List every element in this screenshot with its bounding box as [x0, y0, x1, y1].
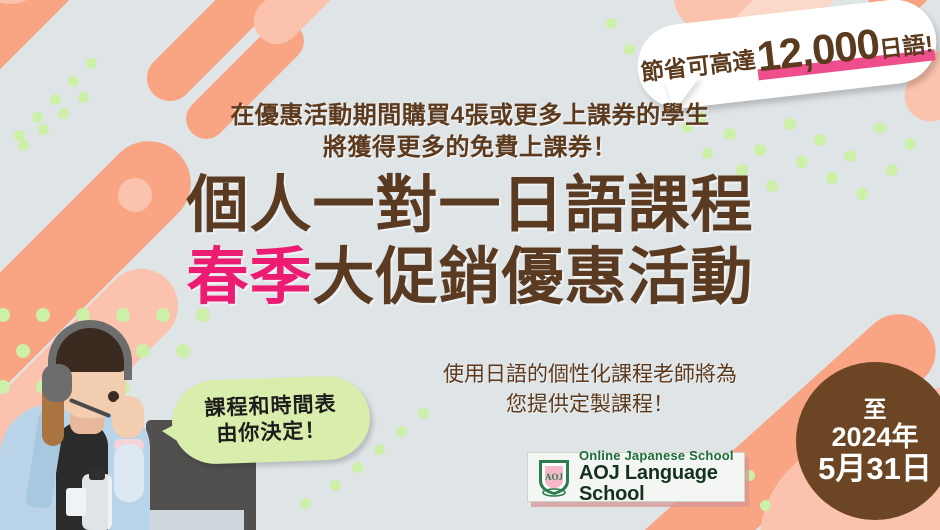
forearm: [114, 444, 144, 502]
savings-prefix: 節省可高達: [639, 41, 757, 88]
headline-accent: 春季: [186, 243, 312, 312]
id-badge: [66, 488, 86, 516]
subheading-line-2: 將獲得更多的免費上課券！: [0, 132, 940, 164]
deadline-year: 2024年: [831, 423, 918, 452]
savings-suffix: 日語!: [878, 31, 934, 63]
body-copy-line-2: 您提供定製課程！: [395, 390, 785, 420]
subheading: 在優惠活動期間購買4張或更多上課券的學生 將獲得更多的免費上課券！: [0, 100, 940, 163]
savings-highlight: 12,000日語!: [753, 14, 935, 82]
subheading-line-1: 在優惠活動期間購買4張或更多上課券的學生: [0, 100, 940, 132]
logo-top-text: Online Japanese School: [579, 449, 736, 463]
deadline-day: 5月31日: [818, 452, 932, 485]
body-copy-line-1: 使用日語的個性化課程老師將為: [395, 360, 785, 390]
svg-text:AOJ: AOJ: [545, 472, 564, 482]
water-bottle: [82, 474, 112, 530]
headphone-earcup: [42, 364, 72, 402]
headline-line-1: 個人一對一日語課程: [0, 170, 940, 242]
promo-banner: 節省可高達 12,000日語! 在優惠活動期間購買4張或更多上課券的學生 將獲得…: [0, 0, 940, 530]
aoj-crest-icon: AOJ: [536, 457, 572, 497]
logo-wordmark: Online Japanese School AOJ Language Scho…: [579, 449, 736, 505]
schedule-callout-bubble: 課程和時間表 由你決定！: [172, 378, 370, 462]
aoj-logo[interactable]: AOJ Online Japanese School AOJ Language …: [527, 452, 745, 502]
deadline-badge: 至 2024年 5月31日: [796, 362, 940, 520]
headline: 個人一對一日語課程 春季大促銷優惠活動: [0, 170, 940, 314]
schedule-bubble-content: 課程和時間表 由你決定！: [171, 375, 372, 466]
bottle-cap: [89, 468, 105, 480]
body-copy: 使用日語的個性化課程老師將為 您提供定製課程！: [395, 360, 785, 420]
deadline-label: 至: [864, 397, 887, 422]
headline-line-2: 春季大促銷優惠活動: [0, 242, 940, 314]
logo-bottom-text: AOJ Language School: [579, 463, 736, 505]
hand: [112, 396, 144, 438]
schedule-line-2: 由你決定！: [216, 418, 327, 447]
headline-rest: 大促銷優惠活動: [313, 243, 754, 312]
savings-amount: 12,000: [754, 20, 881, 81]
